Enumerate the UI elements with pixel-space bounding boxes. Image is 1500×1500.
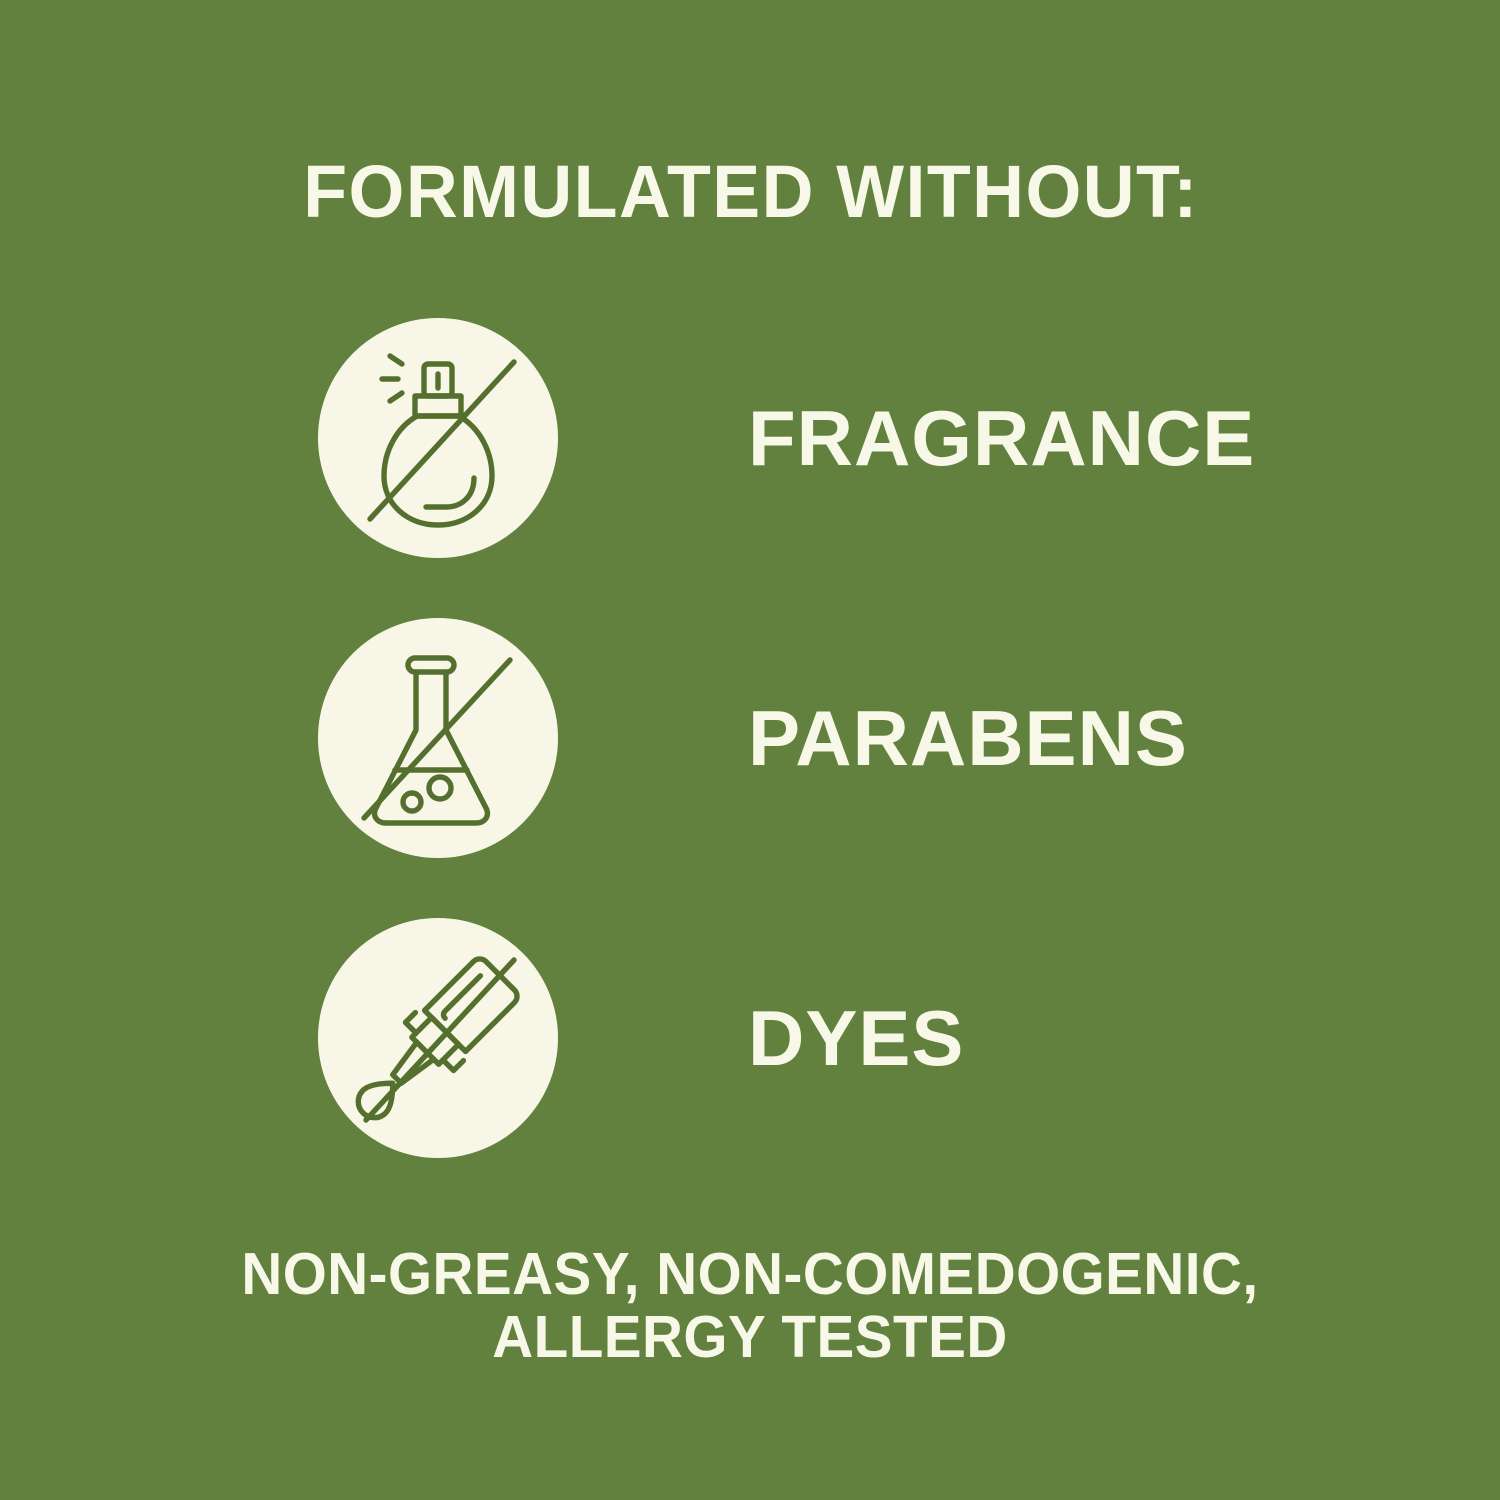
list-item: PARABENS <box>0 618 1500 858</box>
no-dyes-dropper-icon <box>318 918 558 1158</box>
list-item: FRAGRANCE <box>0 318 1500 558</box>
list-item: DYES <box>0 918 1500 1158</box>
footer-claims-line-2: ALLERGY TESTED <box>30 1306 1470 1369</box>
list-item-label: PARABENS <box>748 618 1188 858</box>
list-item-label: FRAGRANCE <box>748 318 1255 558</box>
no-parabens-flask-icon <box>318 618 558 858</box>
footer-claims-line-1: NON-GREASY, NON-COMEDOGENIC, <box>30 1243 1470 1306</box>
claims-list: FRAGRANCE PARABENS <box>0 318 1500 1158</box>
page-title: FORMULATED WITHOUT: <box>24 155 1479 229</box>
formulated-without-infographic: FORMULATED WITHOUT: <box>0 0 1500 1500</box>
list-item-label: DYES <box>748 918 964 1158</box>
footer-claims: NON-GREASY, NON-COMEDOGENIC, ALLERGY TES… <box>0 1243 1500 1369</box>
no-fragrance-spray-bottle-icon <box>318 318 558 558</box>
